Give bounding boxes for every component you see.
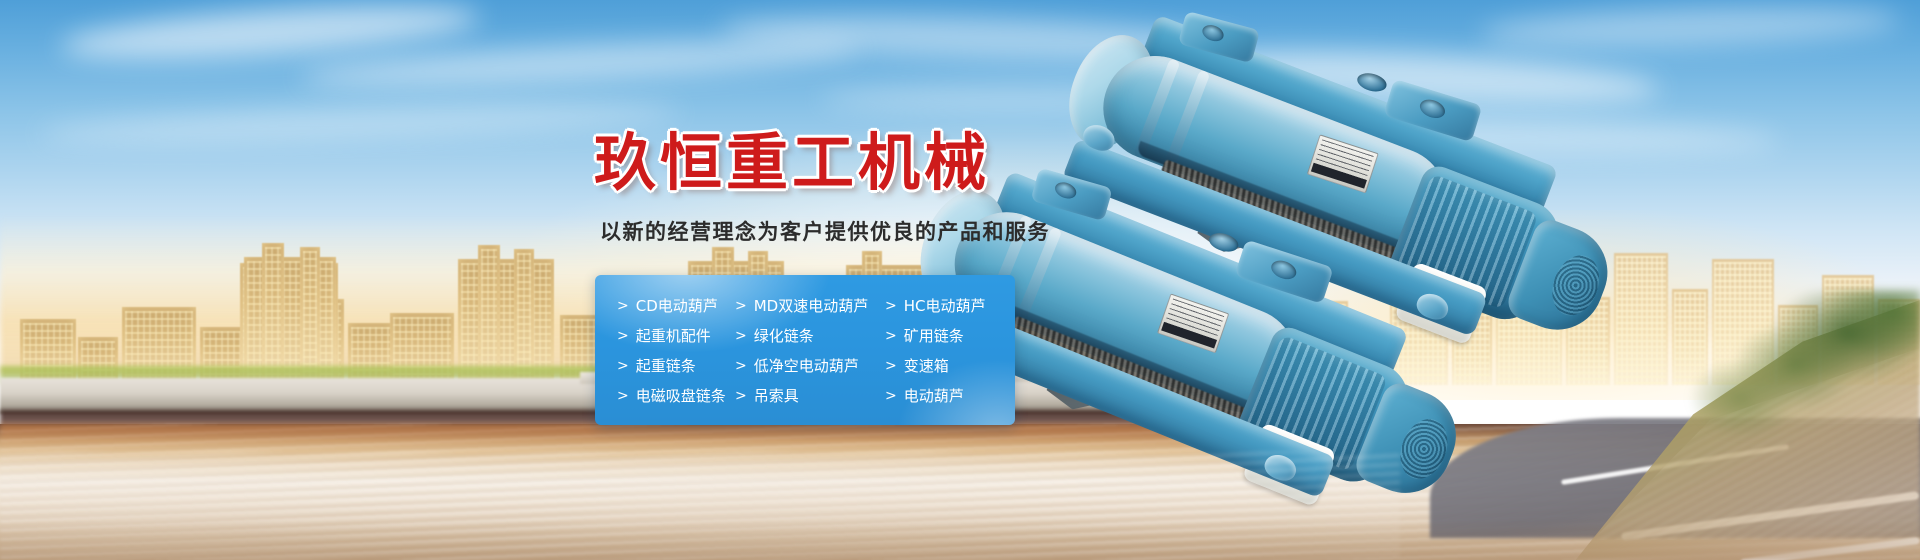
product-link-label: MD双速电动葫芦 bbox=[754, 299, 869, 314]
chevron-right-icon: > bbox=[617, 299, 629, 313]
product-link-label: 吊索具 bbox=[754, 389, 799, 404]
product-link-slings[interactable]: > 吊索具 bbox=[735, 389, 885, 404]
product-links-grid: > CD电动葫芦 > MD双速电动葫芦 > HC电动葫芦 > 起重机配件 > 绿… bbox=[595, 275, 1015, 425]
chevron-right-icon: > bbox=[735, 299, 747, 313]
chevron-right-icon: > bbox=[735, 329, 747, 343]
product-link-hc-hoist[interactable]: > HC电动葫芦 bbox=[885, 299, 1015, 314]
product-link-md-dual-speed-hoist[interactable]: > MD双速电动葫芦 bbox=[735, 299, 885, 314]
product-link-gearbox[interactable]: > 变速箱 bbox=[885, 359, 1015, 374]
hero-banner: 玖恒重工机械 以新的经营理念为客户提供优良的产品和服务 > CD电动葫芦 > M… bbox=[0, 0, 1920, 560]
company-tagline: 以新的经营理念为客户提供优良的产品和服务 bbox=[600, 216, 1050, 246]
chevron-right-icon: > bbox=[617, 359, 629, 373]
product-link-lifting-chain[interactable]: > 起重链条 bbox=[617, 359, 735, 374]
product-link-label: 变速箱 bbox=[904, 359, 949, 374]
company-title: 玖恒重工机械 bbox=[594, 112, 990, 202]
product-link-label: HC电动葫芦 bbox=[904, 299, 986, 314]
product-link-magnetic-chuck-chain[interactable]: > 电磁吸盘链条 bbox=[617, 389, 735, 404]
product-link-label: 矿用链条 bbox=[904, 329, 964, 344]
chevron-right-icon: > bbox=[885, 389, 897, 403]
chevron-right-icon: > bbox=[735, 389, 747, 403]
product-link-label: 低净空电动葫芦 bbox=[754, 359, 859, 374]
product-link-cd-hoist[interactable]: > CD电动葫芦 bbox=[617, 299, 735, 314]
hook-eye bbox=[1355, 70, 1388, 94]
hook-eye bbox=[1207, 230, 1241, 255]
chevron-right-icon: > bbox=[885, 299, 897, 313]
chevron-right-icon: > bbox=[885, 359, 897, 373]
product-link-greening-chain[interactable]: > 绿化链条 bbox=[735, 329, 885, 344]
chevron-right-icon: > bbox=[885, 329, 897, 343]
product-link-label: CD电动葫芦 bbox=[636, 299, 718, 314]
product-link-low-headroom-hoist[interactable]: > 低净空电动葫芦 bbox=[735, 359, 885, 374]
chevron-right-icon: > bbox=[735, 359, 747, 373]
product-link-crane-parts[interactable]: > 起重机配件 bbox=[617, 329, 735, 344]
product-links-panel: > CD电动葫芦 > MD双速电动葫芦 > HC电动葫芦 > 起重机配件 > 绿… bbox=[595, 275, 1015, 425]
chevron-right-icon: > bbox=[617, 329, 629, 343]
chevron-right-icon: > bbox=[617, 389, 629, 403]
product-link-label: 绿化链条 bbox=[754, 329, 814, 344]
product-link-mining-chain[interactable]: > 矿用链条 bbox=[885, 329, 1015, 344]
product-link-label: 电磁吸盘链条 bbox=[636, 389, 726, 404]
product-link-label: 起重链条 bbox=[636, 359, 696, 374]
product-link-electric-hoist[interactable]: > 电动葫芦 bbox=[885, 389, 1015, 404]
product-link-label: 电动葫芦 bbox=[904, 389, 964, 404]
product-link-label: 起重机配件 bbox=[636, 329, 711, 344]
